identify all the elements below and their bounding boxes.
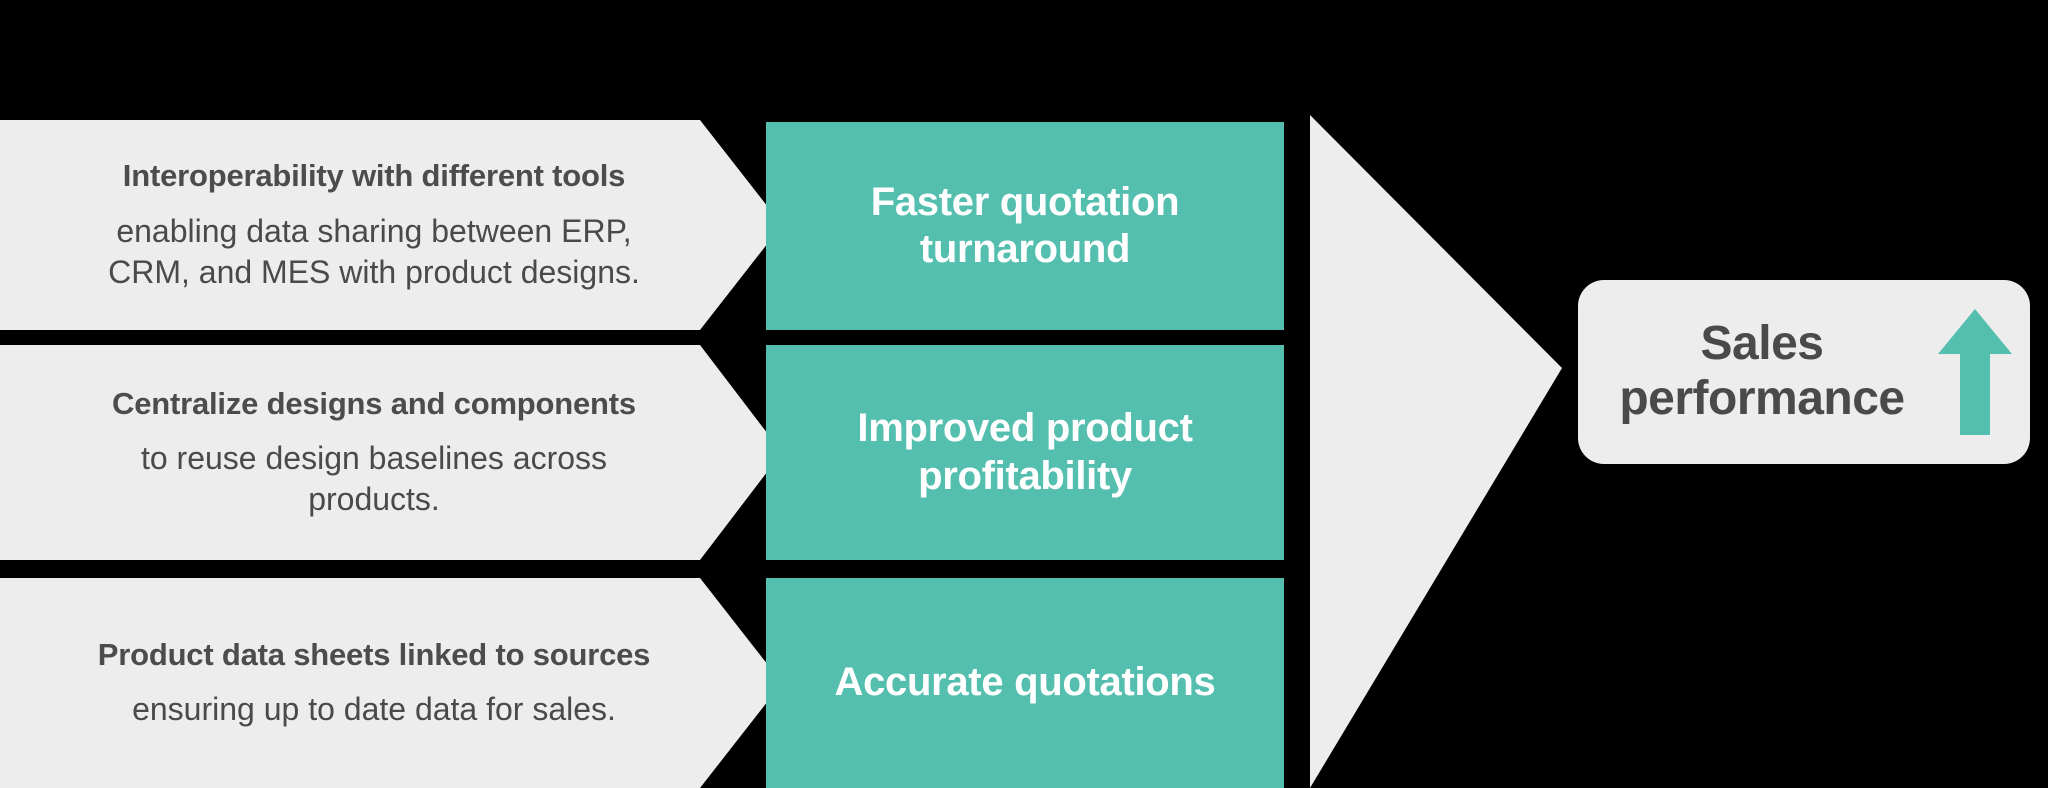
benefit-label-1: Faster quotation turnaround <box>792 179 1258 273</box>
capability-chevron-1: Interoperability with different tools en… <box>0 120 782 330</box>
benefit-label-3: Accurate quotations <box>834 659 1215 706</box>
benefit-box-2: Improved product profitability <box>766 345 1284 560</box>
capability-chevron-2: Centralize designs and components to reu… <box>0 345 782 560</box>
capability-title-1: Interoperability with different tools <box>123 157 625 194</box>
benefit-label-2: Improved product profitability <box>792 405 1258 499</box>
capability-body-2: to reuse design baselines across product… <box>74 438 674 520</box>
arrow-up-icon <box>1938 309 2012 435</box>
benefit-box-3: Accurate quotations <box>766 578 1284 788</box>
capability-body-3: ensuring up to date data for sales. <box>132 689 616 730</box>
outcome-card: Sales performance <box>1578 280 2030 464</box>
diagram-canvas: Interoperability with different tools en… <box>0 0 2048 788</box>
arrow-right-icon <box>1310 115 1562 788</box>
benefit-box-1: Faster quotation turnaround <box>766 122 1284 330</box>
outcome-label: Sales performance <box>1592 317 1932 426</box>
capability-title-2: Centralize designs and components <box>112 385 636 422</box>
capability-title-3: Product data sheets linked to sources <box>98 636 650 673</box>
capability-chevron-3: Product data sheets linked to sources en… <box>0 578 782 788</box>
capability-body-1: enabling data sharing between ERP, CRM, … <box>74 211 674 293</box>
